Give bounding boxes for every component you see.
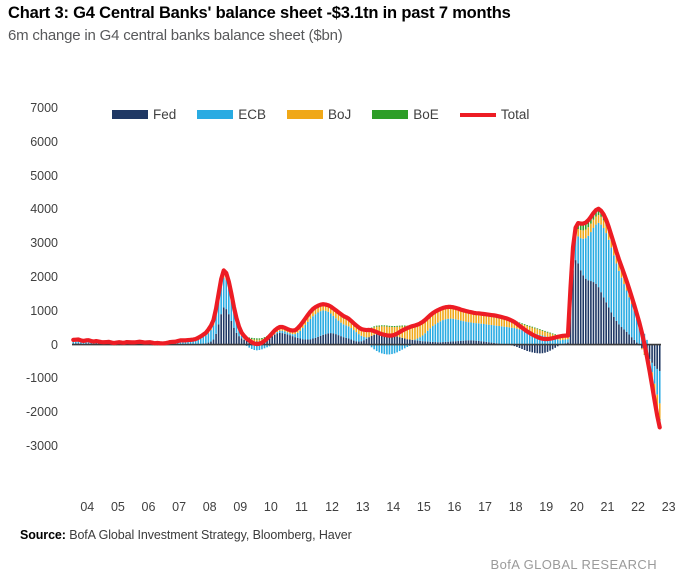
- bar-segment-ecb: [486, 324, 488, 342]
- bar-segment-boe: [544, 331, 546, 332]
- x-axis-tick: 13: [356, 500, 370, 514]
- x-axis-tick: 05: [111, 500, 125, 514]
- bar-segment-boe: [254, 338, 256, 339]
- bar-segment-fed: [616, 321, 618, 345]
- bar-segment-boj: [496, 318, 498, 326]
- bar-segment-ecb: [310, 319, 312, 339]
- bar-segment-ecb: [590, 232, 592, 281]
- bar-segment-boj: [465, 312, 467, 322]
- bar-segment-fed: [613, 317, 615, 345]
- bar-segment-ecb: [356, 332, 358, 341]
- bar-segment-fed: [399, 337, 401, 344]
- bar-segment-fed: [340, 336, 342, 344]
- bar-segment-ecb: [325, 311, 327, 334]
- bar-segment-boe: [384, 325, 386, 326]
- bar-segment-boj: [460, 311, 462, 321]
- bar-segment-boj: [386, 327, 388, 334]
- bar-segment-boj: [506, 320, 508, 327]
- bar-segment-ecb: [345, 325, 347, 338]
- bar-segment-boj: [483, 316, 485, 324]
- bar-segment-boe: [259, 338, 261, 339]
- bar-segment-boe: [386, 326, 388, 327]
- bar-segment-boj: [501, 319, 503, 326]
- bar-segment-boj: [493, 318, 495, 326]
- bar-segment-fed: [228, 314, 230, 344]
- bar-segment-boj: [488, 317, 490, 325]
- bar-segment-ecb: [208, 333, 210, 342]
- bar-segment-boj: [577, 229, 579, 236]
- bar-segment-fed: [524, 345, 526, 350]
- bar-segment-boe: [521, 323, 523, 324]
- bar-segment-ecb: [340, 323, 342, 337]
- bar-segment-boj: [256, 340, 258, 342]
- bar-segment-fed: [236, 333, 238, 345]
- bar-segment-ecb: [524, 331, 526, 345]
- bar-segment-ecb: [473, 323, 475, 341]
- bar-segment-ecb: [294, 334, 296, 337]
- bar-segment-boj: [603, 220, 605, 228]
- bar-segment-fed: [368, 337, 370, 344]
- x-axis-tick: 06: [142, 500, 156, 514]
- bar-segment-ecb: [312, 316, 314, 338]
- x-axis-tick: 08: [203, 500, 217, 514]
- bar-segment-ecb: [358, 334, 360, 341]
- bar-segment-boe: [547, 332, 549, 333]
- bar-segment-fed: [330, 333, 332, 344]
- bar-segment-fed: [292, 336, 294, 344]
- bar-segment-ecb: [588, 236, 590, 281]
- bar-segment-fed: [580, 270, 582, 344]
- bar-segment-ecb: [457, 320, 459, 341]
- bar-segment-ecb: [567, 339, 569, 342]
- brand-footer: BofA GLOBAL RESEARCH: [491, 557, 657, 572]
- bar-segment-ecb: [389, 345, 391, 355]
- bar-segment-ecb: [348, 326, 350, 338]
- bar-segment-boj: [475, 314, 477, 323]
- bar-segment-fed: [526, 345, 528, 351]
- bar-segment-fed: [595, 284, 597, 345]
- bar-segment-fed: [366, 339, 368, 345]
- bar-segment-boj: [598, 215, 600, 223]
- bar-segment-fed: [320, 336, 322, 345]
- bar-segment-fed: [322, 335, 324, 345]
- bar-segment-boj: [473, 314, 475, 323]
- bar-segment-ecb: [506, 327, 508, 345]
- bar-segment-boe: [524, 324, 526, 325]
- bar-segment-fed: [338, 335, 340, 344]
- bar-segment-boj: [595, 217, 597, 225]
- bar-segment-fed: [284, 334, 286, 345]
- bar-segment-fed: [333, 333, 335, 344]
- bar-segment-boj: [315, 309, 317, 314]
- bar-segment-ecb: [282, 331, 284, 333]
- bar-segment-boj: [325, 306, 327, 311]
- bar-segment-ecb: [618, 271, 620, 324]
- bar-segment-boj: [450, 308, 452, 319]
- bar-segment-boj: [542, 331, 544, 336]
- bar-segment-ecb: [322, 310, 324, 334]
- bar-segment-ecb: [307, 322, 309, 340]
- bar-segment-fed: [651, 345, 653, 363]
- bar-segment-boe: [373, 326, 375, 327]
- total-line-series: [73, 209, 659, 428]
- bar-segment-ecb: [503, 327, 505, 345]
- bar-segment-ecb: [330, 314, 332, 334]
- bar-segment-fed: [544, 345, 546, 353]
- bar-segment-boj: [445, 308, 447, 319]
- bar-segment-ecb: [613, 255, 615, 317]
- bar-segment-fed: [223, 307, 225, 344]
- x-axis-tick: 04: [80, 500, 94, 514]
- bar-segment-ecb: [350, 328, 352, 339]
- x-axis-tick: 20: [570, 500, 584, 514]
- bar-segment-ecb: [292, 334, 294, 336]
- source-label: Source:: [20, 528, 66, 542]
- bar-segment-ecb: [417, 339, 419, 341]
- bar-segment-ecb: [491, 325, 493, 343]
- x-axis-tick: 11: [295, 500, 308, 514]
- bar-segment-ecb: [305, 325, 307, 340]
- chart-canvas: [0, 88, 675, 488]
- bar-segment-fed: [605, 302, 607, 344]
- bar-segment-boj: [470, 313, 472, 322]
- bar-segment-ecb: [424, 333, 426, 341]
- bar-segment-boj: [585, 230, 587, 239]
- bar-segment-fed: [220, 314, 222, 344]
- bar-segment-ecb: [628, 297, 630, 334]
- bar-segment-ecb: [399, 345, 401, 351]
- bar-segment-boe: [401, 326, 403, 327]
- bar-segment-fed: [310, 339, 312, 344]
- bar-segment-boe: [391, 326, 393, 327]
- bar-segment-boj: [588, 227, 590, 236]
- bar-segment-fed: [345, 338, 347, 345]
- bar-segment-fed: [531, 345, 533, 353]
- bar-segment-fed: [547, 345, 549, 352]
- bar-segment-fed: [325, 334, 327, 344]
- bar-segment-ecb: [598, 223, 600, 287]
- bar-segment-ecb: [366, 338, 368, 339]
- bar-segment-fed: [529, 345, 531, 352]
- source-text: BofA Global Investment Strategy, Bloombe…: [66, 528, 352, 542]
- x-axis-tick: 18: [509, 500, 523, 514]
- bar-segment-ecb: [480, 324, 482, 342]
- bar-segment-boe: [394, 326, 396, 327]
- bar-segment-ecb: [327, 312, 329, 334]
- bar-segment-fed: [238, 336, 240, 344]
- bar-segment-ecb: [562, 340, 564, 344]
- bar-segment-fed: [294, 337, 296, 344]
- bar-segment-fed: [598, 287, 600, 344]
- bar-segment-boj: [534, 328, 536, 333]
- bar-segment-ecb: [396, 345, 398, 353]
- bar-segment-boj: [422, 323, 424, 336]
- bar-segment-ecb: [654, 366, 656, 384]
- x-axis-tick: 09: [233, 500, 247, 514]
- bar-segment-ecb: [455, 319, 457, 341]
- bar-segment-ecb: [376, 345, 378, 351]
- chart-title: Chart 3: G4 Central Banks' balance sheet…: [8, 4, 668, 23]
- bar-segment-ecb: [210, 330, 212, 341]
- bar-segment-boe: [534, 328, 536, 329]
- bar-segment-ecb: [465, 322, 467, 341]
- x-axis-tick: 19: [539, 500, 553, 514]
- bar-segment-ecb: [437, 323, 439, 343]
- bar-segment-boj: [480, 315, 482, 324]
- bar-segment-boj: [537, 329, 539, 334]
- bar-segment-boj: [590, 224, 592, 232]
- bar-segment-fed: [274, 334, 276, 344]
- bar-segment-boj: [463, 311, 465, 321]
- bar-segment-boj: [641, 348, 643, 349]
- bar-segment-ecb: [656, 369, 658, 395]
- bar-segment-ecb: [343, 324, 345, 337]
- bar-segment-ecb: [483, 324, 485, 342]
- bar-segment-ecb: [605, 233, 607, 302]
- bar-segment-fed: [631, 337, 633, 344]
- bar-segment-ecb: [585, 238, 587, 279]
- bar-segment-ecb: [600, 225, 602, 293]
- bar-segment-fed: [231, 321, 233, 345]
- bar-segment-boe: [399, 326, 401, 327]
- bar-segment-boj: [417, 326, 419, 339]
- bar-segment-boe: [531, 327, 533, 328]
- bar-segment-ecb: [432, 326, 434, 342]
- bar-segment-boe: [542, 330, 544, 331]
- bar-segment-ecb: [582, 239, 584, 276]
- bar-segment-fed: [343, 337, 345, 344]
- bar-segment-boe: [396, 326, 398, 327]
- bar-segment-fed: [312, 339, 314, 345]
- bar-segment-fed: [282, 333, 284, 344]
- bar-segment-fed: [302, 339, 304, 344]
- bar-segment-fed: [276, 333, 278, 344]
- bar-segment-boj: [486, 316, 488, 324]
- bar-segment-fed: [279, 333, 281, 345]
- bar-segment-boj: [317, 308, 319, 313]
- bar-segment-ecb: [414, 340, 416, 341]
- bar-segment-ecb: [333, 316, 335, 334]
- bar-segment-ecb: [447, 319, 449, 342]
- bar-segment-boe: [261, 338, 263, 339]
- bar-segment-ecb: [621, 278, 623, 327]
- bar-segment-ecb: [659, 371, 661, 403]
- source-note: Source: BofA Global Investment Strategy,…: [20, 528, 352, 542]
- bar-segment-boj: [547, 333, 549, 337]
- bar-segment-boe: [526, 325, 528, 326]
- bar-segment-boe: [549, 333, 551, 334]
- bar-segment-ecb: [427, 331, 429, 342]
- bar-segment-boj: [259, 340, 261, 342]
- bar-segment-ecb: [72, 342, 74, 344]
- bar-segment-ecb: [419, 337, 421, 341]
- bar-segment-fed: [626, 332, 628, 345]
- bar-segment-boj: [539, 330, 541, 335]
- bar-segment-fed: [575, 260, 577, 345]
- bar-segment-fed: [373, 335, 375, 345]
- x-axis-tick: 15: [417, 500, 431, 514]
- bar-segment-ecb: [631, 304, 633, 337]
- bar-segment-boj: [437, 311, 439, 322]
- bar-segment-ecb: [353, 330, 355, 340]
- bar-segment-fed: [218, 324, 220, 344]
- bar-segment-ecb: [496, 326, 498, 344]
- bar-segment-boj: [440, 310, 442, 321]
- bar-segment-fed: [348, 339, 350, 345]
- bar-segment-ecb: [391, 345, 393, 354]
- bar-segment-boj: [384, 326, 386, 333]
- x-axis-tick: 07: [172, 500, 186, 514]
- bar-segment-ecb: [435, 324, 437, 342]
- x-axis-tick: 23: [662, 500, 675, 514]
- bar-segment-boj: [412, 327, 414, 340]
- bar-segment-fed: [537, 345, 539, 354]
- bar-segment-ecb: [468, 322, 470, 340]
- bar-segment-fed: [315, 338, 317, 345]
- bar-segment-ecb: [580, 238, 582, 270]
- bar-segment-ecb: [623, 284, 625, 329]
- x-axis-tick: 10: [264, 500, 278, 514]
- bar-segment-ecb: [75, 342, 77, 344]
- bar-segment-ecb: [317, 312, 319, 336]
- bar-segment-fed: [608, 307, 610, 344]
- bar-segment-boj: [498, 319, 500, 326]
- bar-segment-boj: [544, 332, 546, 336]
- bar-segment-boj: [593, 220, 595, 228]
- bar-segment-ecb: [299, 331, 301, 339]
- bar-segment-fed: [549, 345, 551, 351]
- bar-segment-fed: [654, 345, 656, 367]
- bar-segment-fed: [394, 336, 396, 345]
- bar-segment-fed: [317, 337, 319, 345]
- bar-segment-ecb: [203, 337, 205, 344]
- bar-segment-fed: [297, 338, 299, 345]
- bar-segment-ecb: [287, 332, 289, 334]
- bar-segment-boe: [404, 326, 406, 327]
- bar-segment-ecb: [519, 329, 521, 344]
- bar-segment-ecb: [381, 345, 383, 354]
- bar-segment-boj: [455, 309, 457, 319]
- bar-segment-fed: [656, 345, 658, 369]
- bar-segment-ecb: [394, 345, 396, 354]
- bar-segment-boj: [503, 320, 505, 327]
- bar-segment-fed: [396, 336, 398, 344]
- bar-segment-fed: [225, 309, 227, 344]
- bar-segment-ecb: [429, 328, 431, 342]
- bar-segment-fed: [621, 327, 623, 345]
- x-axis-tick: 16: [448, 500, 462, 514]
- bar-segment-fed: [289, 335, 291, 344]
- bar-segment-boj: [419, 324, 421, 337]
- bar-segment-ecb: [386, 345, 388, 355]
- bar-segment-ecb: [450, 319, 452, 342]
- bar-segment-ecb: [610, 248, 612, 313]
- bar-segment-boj: [338, 315, 340, 321]
- x-axis-tick: 21: [601, 500, 615, 514]
- bar-segment-fed: [603, 297, 605, 344]
- bar-segment-ecb: [595, 225, 597, 284]
- bar-segment-ecb: [633, 311, 635, 340]
- bar-segment-boe: [554, 334, 556, 335]
- bar-segment-fed: [590, 281, 592, 345]
- bar-segment-ecb: [297, 333, 299, 338]
- bar-segment-boj: [447, 308, 449, 319]
- bar-segment-ecb: [276, 332, 278, 333]
- bar-segment-fed: [659, 345, 661, 371]
- bar-segment-fed: [588, 280, 590, 344]
- bar-segment-ecb: [205, 335, 207, 343]
- bar-segment-ecb: [470, 322, 472, 340]
- bar-segment-boe: [389, 326, 391, 327]
- bar-segment-boj: [442, 309, 444, 320]
- bar-segment-ecb: [626, 291, 628, 332]
- bar-segment-ecb: [521, 330, 523, 345]
- bar-segment-boj: [457, 310, 459, 320]
- bar-segment-fed: [241, 339, 243, 345]
- bar-segment-boj: [600, 217, 602, 225]
- bar-segment-ecb: [361, 336, 363, 341]
- bar-segment-fed: [577, 263, 579, 344]
- bar-segment-boj: [580, 230, 582, 238]
- bar-segment-ecb: [338, 321, 340, 336]
- bar-segment-ecb: [440, 321, 442, 342]
- bar-segment-boe: [381, 325, 383, 326]
- bar-segment-fed: [327, 333, 329, 344]
- bar-segment-ecb: [514, 328, 516, 345]
- bar-segment-ecb: [302, 328, 304, 339]
- bar-segment-boj: [343, 318, 345, 324]
- bar-segment-ecb: [493, 325, 495, 343]
- x-axis-tick: 14: [386, 500, 400, 514]
- bar-segment-ecb: [442, 320, 444, 342]
- bar-segment-boj: [345, 320, 347, 326]
- bar-segment-ecb: [279, 331, 281, 333]
- bar-segment-fed: [593, 282, 595, 345]
- x-axis-tick: 17: [478, 500, 492, 514]
- bar-segment-ecb: [508, 327, 510, 344]
- bar-segment-ecb: [363, 337, 365, 340]
- bar-segment-boe: [376, 326, 378, 327]
- chart-subtitle: 6m change in G4 central banks balance sh…: [8, 27, 668, 44]
- bar-segment-boj: [322, 306, 324, 310]
- bar-segment-boe: [378, 326, 380, 327]
- bar-segment-boe: [529, 326, 531, 327]
- bar-segment-boe: [552, 333, 554, 334]
- bar-segment-ecb: [498, 326, 500, 344]
- chart-plot-area: FedECBBoJBoETotal 7000600050004000300020…: [0, 88, 675, 488]
- bar-segment-boj: [468, 313, 470, 322]
- bar-segment-fed: [404, 339, 406, 345]
- bar-segment-ecb: [422, 335, 424, 341]
- bar-segment-fed: [582, 275, 584, 344]
- bar-segment-boe: [539, 329, 541, 330]
- bar-segment-fed: [376, 334, 378, 344]
- bar-segment-boj: [582, 230, 584, 238]
- bar-segment-ecb: [335, 318, 337, 334]
- bar-segment-fed: [233, 328, 235, 345]
- bar-segment-ecb: [452, 319, 454, 342]
- bar-segment-fed: [618, 324, 620, 344]
- x-axis-tick: 22: [631, 500, 645, 514]
- bar-segment-fed: [215, 334, 217, 345]
- bar-segment-ecb: [511, 328, 513, 345]
- bar-segment-fed: [585, 279, 587, 345]
- bar-segment-ecb: [460, 321, 462, 341]
- bar-segment-ecb: [463, 321, 465, 341]
- bar-segment-ecb: [289, 333, 291, 335]
- bar-segment-ecb: [213, 325, 215, 339]
- x-axis-tick: 12: [325, 500, 339, 514]
